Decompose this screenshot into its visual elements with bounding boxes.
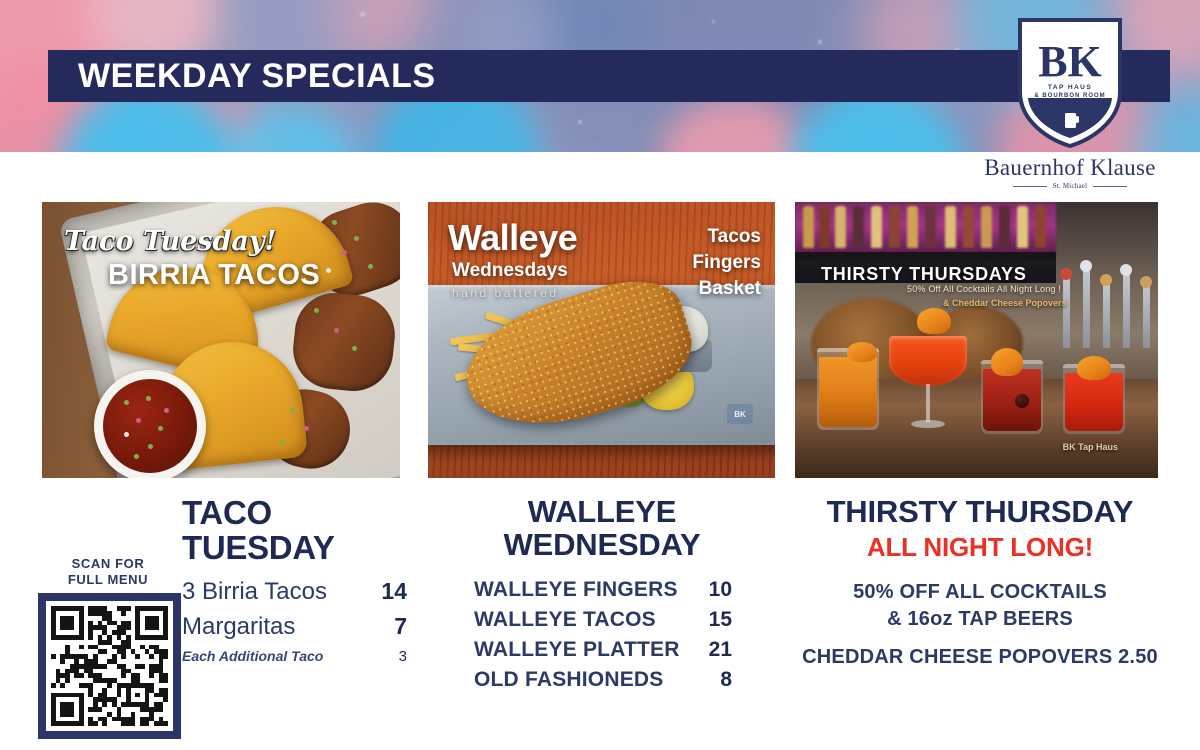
thursday-title-line1: THIRSTY THURSDAY: [790, 496, 1170, 529]
menu-item-row: 3 Birria Tacos 14: [182, 578, 407, 606]
walleye-photo-card: BK Walleye Wednesdays hand battered Taco…: [428, 202, 775, 478]
walleye-right-line3: Basket: [692, 276, 761, 302]
salsa-liquid: [103, 379, 197, 473]
menu-item-name: WALLEYE PLATTER: [474, 638, 680, 662]
bottle: [871, 206, 882, 248]
bottle: [889, 206, 900, 248]
cilantro-garnish: [314, 308, 319, 313]
bottle: [803, 206, 814, 248]
tap-handle: [1083, 264, 1090, 348]
qr-frame[interactable]: [38, 593, 181, 739]
thursday-highlight: ALL NIGHT LONG!: [790, 532, 1170, 563]
thursday-line-1: 50% OFF ALL COCKTAILS: [790, 579, 1170, 607]
cocktails-photo: THIRSTY THURSDAYS 50% Off All Cocktails …: [795, 202, 1158, 478]
glass-stem: [926, 384, 930, 422]
brand-logo: BK TAP HAUS & BOURBON ROOM: [1018, 18, 1122, 148]
cilantro-garnish: [352, 346, 357, 351]
tap-handle: [1063, 272, 1070, 348]
onion-garnish: [334, 328, 339, 333]
bokeh-speck: [578, 120, 582, 124]
cocktails-overlay-title-wrap: THIRSTY THURSDAYS: [821, 264, 1027, 285]
menu-item-name: WALLEYE FINGERS: [474, 578, 678, 602]
cocktail-liquid: [819, 357, 877, 427]
cocktails-photo-credit: BK Tap Haus: [1063, 442, 1118, 452]
qr-menu-block[interactable]: SCAN FOR FULL MENU: [34, 556, 182, 739]
menu-item-name: Each Additional Taco: [182, 648, 323, 664]
bokeh-speck: [360, 12, 365, 17]
divider-left: [1013, 186, 1047, 187]
orange-garnish: [1077, 356, 1111, 380]
liquor-shelf: [795, 202, 1056, 254]
salsa-bowl: [94, 370, 206, 478]
menu-item-row: WALLEYE PLATTER 21: [474, 638, 732, 662]
menu-item-name: 3 Birria Tacos: [182, 578, 327, 606]
walleye-overlay-left: Walleye Wednesdays hand battered: [448, 220, 577, 300]
orange-garnish: [917, 308, 951, 334]
brand-name: Bauernhof Klause: [955, 155, 1185, 181]
taco-photo-card: Taco Tuesday! BIRRIA TACOS: [42, 202, 400, 478]
cocktails-overlay-title: THIRSTY THURSDAYS: [821, 264, 1027, 285]
bottle: [963, 206, 974, 248]
walleye-overlay-line2: Wednesdays: [452, 260, 577, 282]
brand-wordmark: Bauernhof Klause St. Michael: [955, 155, 1185, 190]
thursday-line-2: & 16oz TAP BEERS: [790, 606, 1170, 634]
glass-foot: [911, 420, 945, 428]
onion-garnish: [326, 268, 331, 273]
menu-item-price: 14: [371, 578, 407, 605]
qr-inner: [46, 601, 173, 731]
brand-sub-row: St. Michael: [955, 182, 1185, 190]
photo-row: Taco Tuesday! BIRRIA TACOS: [0, 202, 1200, 478]
taco-item-list: 3 Birria Tacos 14 Margaritas 7 Each Addi…: [182, 578, 407, 665]
brand-location: St. Michael: [1053, 182, 1087, 190]
svg-text:TAP HAUS: TAP HAUS: [1048, 84, 1092, 91]
cocktails-overlay-sub2: & Cheddar Cheese Popovers: [943, 298, 1067, 308]
qr-caption-line2: FULL MENU: [34, 572, 182, 588]
cocktails-overlay-sub1: 50% Off All Cocktails All Night Long !: [907, 284, 1061, 294]
thursday-column-title: THIRSTY THURSDAY: [790, 496, 1170, 529]
bottle: [1035, 206, 1046, 248]
walleye-title-line1: WALLEYE: [432, 496, 772, 529]
salsa-garnish: [136, 418, 141, 423]
menu-item-price: 3: [371, 648, 407, 665]
salsa-garnish: [124, 432, 129, 437]
taco-overlay-line1: Taco Tuesday!: [64, 226, 320, 257]
cocktail-liquid: [1065, 373, 1123, 431]
walleye-item-list: WALLEYE FINGERS 10 WALLEYE TACOS 15 WALL…: [432, 578, 772, 692]
qr-caption: SCAN FOR FULL MENU: [34, 556, 182, 587]
tap-knob: [1060, 268, 1072, 280]
menu-item-price: 10: [702, 578, 732, 602]
taco-photo: Taco Tuesday! BIRRIA TACOS: [42, 202, 400, 478]
page-title: WEEKDAY SPECIALS: [48, 57, 436, 96]
thursday-detail-list: 50% OFF ALL COCKTAILS & 16oz TAP BEERS C…: [790, 579, 1170, 672]
bottle: [907, 206, 918, 248]
walleye-title-line2: WEDNESDAY: [432, 529, 772, 562]
bottle: [999, 206, 1010, 248]
qr-caption-line1: SCAN FOR: [34, 556, 182, 572]
tap-knob: [1120, 264, 1132, 276]
weekday-specials-flyer: WEEKDAY SPECIALS BK TAP HAUS & BOURBON R…: [0, 0, 1200, 750]
salsa-garnish: [158, 426, 163, 431]
shelf-edge: [795, 252, 1056, 261]
cilantro-garnish: [368, 264, 373, 269]
bottle: [925, 206, 936, 248]
beer-taps: [1049, 228, 1158, 348]
bottle: [1017, 206, 1028, 248]
taco-title-line2: TUESDAY: [182, 531, 407, 566]
walleye-overlay-line3: hand battered: [452, 286, 577, 300]
tap-handle: [1143, 280, 1150, 348]
menu-item-row: Each Additional Taco 3: [182, 648, 407, 665]
walleye-right-line2: Fingers: [692, 250, 761, 276]
walleye-overlay-right: Tacos Fingers Basket: [692, 224, 761, 303]
cilantro-garnish: [280, 440, 285, 445]
bokeh-speck: [712, 20, 715, 23]
menu-item-price: 15: [702, 608, 732, 632]
menu-item-row: WALLEYE FINGERS 10: [474, 578, 732, 602]
menu-item-price: 8: [702, 668, 732, 692]
tap-handle: [1123, 268, 1130, 348]
salsa-garnish: [146, 396, 151, 401]
walleye-overlay-line1: Walleye: [448, 220, 577, 256]
menu-item-name: Margaritas: [182, 613, 295, 641]
salsa-garnish: [164, 408, 169, 413]
menu-item-row: Margaritas 7: [182, 613, 407, 641]
cilantro-garnish: [332, 220, 337, 225]
shield-icon: BK TAP HAUS & BOURBON ROOM: [1018, 18, 1122, 148]
salsa-garnish: [124, 400, 129, 405]
cilantro-garnish: [354, 236, 359, 241]
bottle: [853, 206, 864, 248]
taco-title-line1: TACO: [182, 496, 407, 531]
tap-knob: [1140, 276, 1152, 288]
onion-garnish: [304, 426, 309, 431]
bottle: [819, 206, 830, 248]
tap-handle: [1103, 278, 1110, 348]
menu-item-row: OLD FASHIONEDS 8: [474, 668, 732, 692]
taco-column-title: TACO TUESDAY: [182, 496, 407, 566]
menu-item-name: OLD FASHIONEDS: [474, 668, 663, 692]
coupe-glass: [889, 318, 967, 434]
menu-item-row: WALLEYE TACOS 15: [474, 608, 732, 632]
page-title-bar: WEEKDAY SPECIALS: [48, 50, 1170, 102]
bokeh-speck: [818, 40, 822, 44]
cilantro-garnish: [290, 408, 295, 413]
svg-text:& BOURBON ROOM: & BOURBON ROOM: [1034, 93, 1105, 99]
tap-knob: [1080, 260, 1092, 272]
onion-garnish: [342, 250, 347, 255]
salsa-garnish: [134, 454, 139, 459]
cocktail-liquid: [889, 336, 967, 386]
menu-item-name: WALLEYE TACOS: [474, 608, 656, 632]
divider-right: [1093, 186, 1127, 187]
cocktails-photo-card: THIRSTY THURSDAYS 50% Off All Cocktails …: [795, 202, 1158, 478]
taco-overlay-line2: BIRRIA TACOS: [108, 259, 320, 292]
cocktail-liquid: [983, 369, 1041, 431]
bottle: [981, 206, 992, 248]
cherry-garnish: [1015, 394, 1029, 408]
menu-item-price: 7: [371, 613, 407, 640]
walleye-right-line1: Tacos: [692, 224, 761, 250]
orange-garnish: [847, 342, 877, 362]
bottle: [835, 206, 846, 248]
thirsty-thursday-column: THIRSTY THURSDAY ALL NIGHT LONG! 50% OFF…: [790, 496, 1170, 672]
bottle: [945, 206, 956, 248]
salsa-garnish: [148, 444, 153, 449]
thursday-line-3: CHEDDAR CHEESE POPOVERS 2.50: [790, 644, 1170, 672]
svg-text:BK: BK: [1038, 37, 1102, 86]
menu-item-price: 21: [702, 638, 732, 662]
walleye-column-title: WALLEYE WEDNESDAY: [432, 496, 772, 562]
taco-overlay-text: Taco Tuesday! BIRRIA TACOS: [64, 226, 320, 292]
orange-garnish: [991, 348, 1023, 376]
tap-knob: [1100, 274, 1112, 286]
taco-tuesday-column: TACO TUESDAY 3 Birria Tacos 14 Margarita…: [182, 496, 407, 672]
walleye-wednesday-column: WALLEYE WEDNESDAY WALLEYE FINGERS 10 WAL…: [432, 496, 772, 698]
qr-code-icon[interactable]: [51, 606, 168, 726]
plate-stamp: BK: [727, 404, 753, 424]
walleye-photo: BK Walleye Wednesdays hand battered Taco…: [428, 202, 775, 478]
